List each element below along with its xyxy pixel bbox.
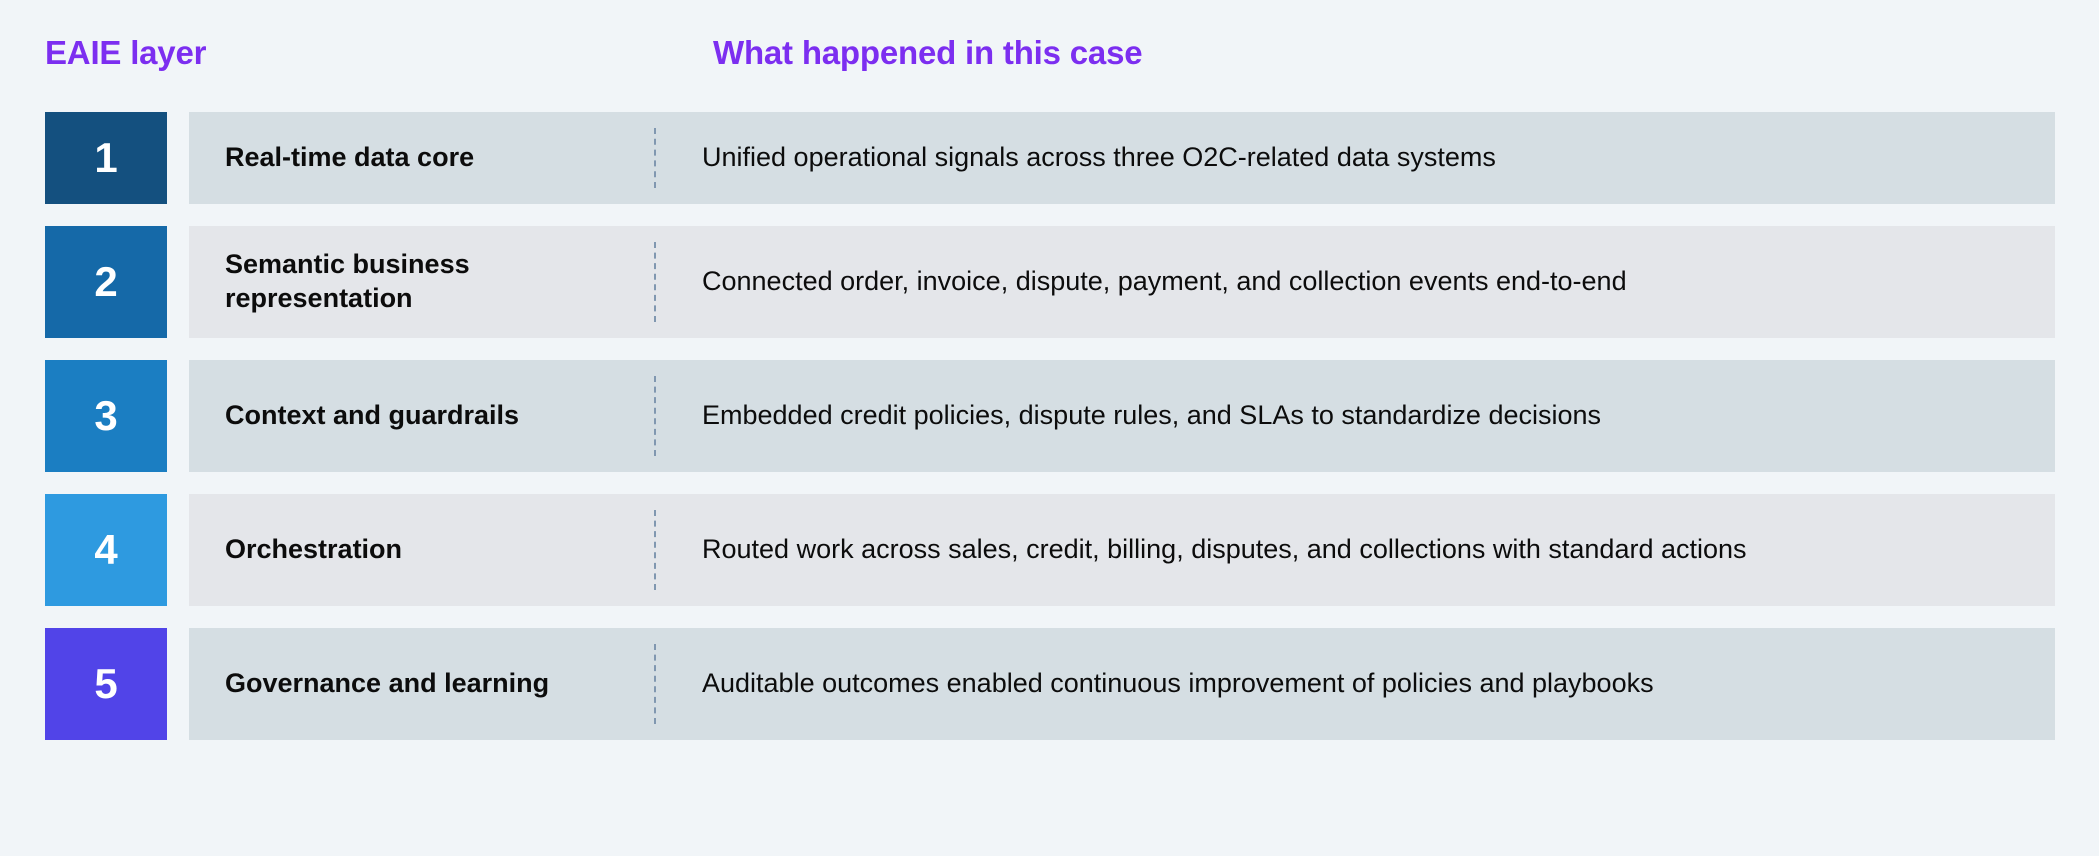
case-detail-cell: Connected order, invoice, dispute, payme…	[656, 226, 2055, 338]
row-content-bar: Real-time data coreUnified operational s…	[189, 112, 2055, 204]
table-row: 4OrchestrationRouted work across sales, …	[0, 494, 2099, 606]
row-content-bar: Context and guardrailsEmbedded credit po…	[189, 360, 2055, 472]
layer-name-cell: Context and guardrails	[189, 360, 654, 472]
layer-name-cell: Real-time data core	[189, 112, 654, 204]
column-headers: EAIE layer What happened in this case	[0, 34, 2099, 84]
column-header-detail: What happened in this case	[713, 34, 1142, 72]
row-content-bar: OrchestrationRouted work across sales, c…	[189, 494, 2055, 606]
layer-number-badge: 4	[45, 494, 167, 606]
case-detail-cell: Unified operational signals across three…	[656, 112, 2055, 204]
layer-name-cell: Orchestration	[189, 494, 654, 606]
table-rows: 1Real-time data coreUnified operational …	[0, 112, 2099, 762]
layer-number-badge: 2	[45, 226, 167, 338]
layer-number-badge: 3	[45, 360, 167, 472]
row-content-bar: Governance and learningAuditable outcome…	[189, 628, 2055, 740]
layer-number-badge: 5	[45, 628, 167, 740]
table-row: 5Governance and learningAuditable outcom…	[0, 628, 2099, 740]
case-detail-cell: Auditable outcomes enabled continuous im…	[656, 628, 2055, 740]
table-row: 2Semantic business representationConnect…	[0, 226, 2099, 338]
table-row: 3Context and guardrailsEmbedded credit p…	[0, 360, 2099, 472]
column-header-layer: EAIE layer	[45, 34, 206, 72]
layer-name-cell: Governance and learning	[189, 628, 654, 740]
table-row: 1Real-time data coreUnified operational …	[0, 112, 2099, 204]
case-detail-cell: Embedded credit policies, dispute rules,…	[656, 360, 2055, 472]
layer-name-cell: Semantic business representation	[189, 226, 654, 338]
row-content-bar: Semantic business representationConnecte…	[189, 226, 2055, 338]
layer-number-badge: 1	[45, 112, 167, 204]
case-detail-cell: Routed work across sales, credit, billin…	[656, 494, 2055, 606]
eaie-layer-table: EAIE layer What happened in this case 1R…	[0, 0, 2099, 856]
